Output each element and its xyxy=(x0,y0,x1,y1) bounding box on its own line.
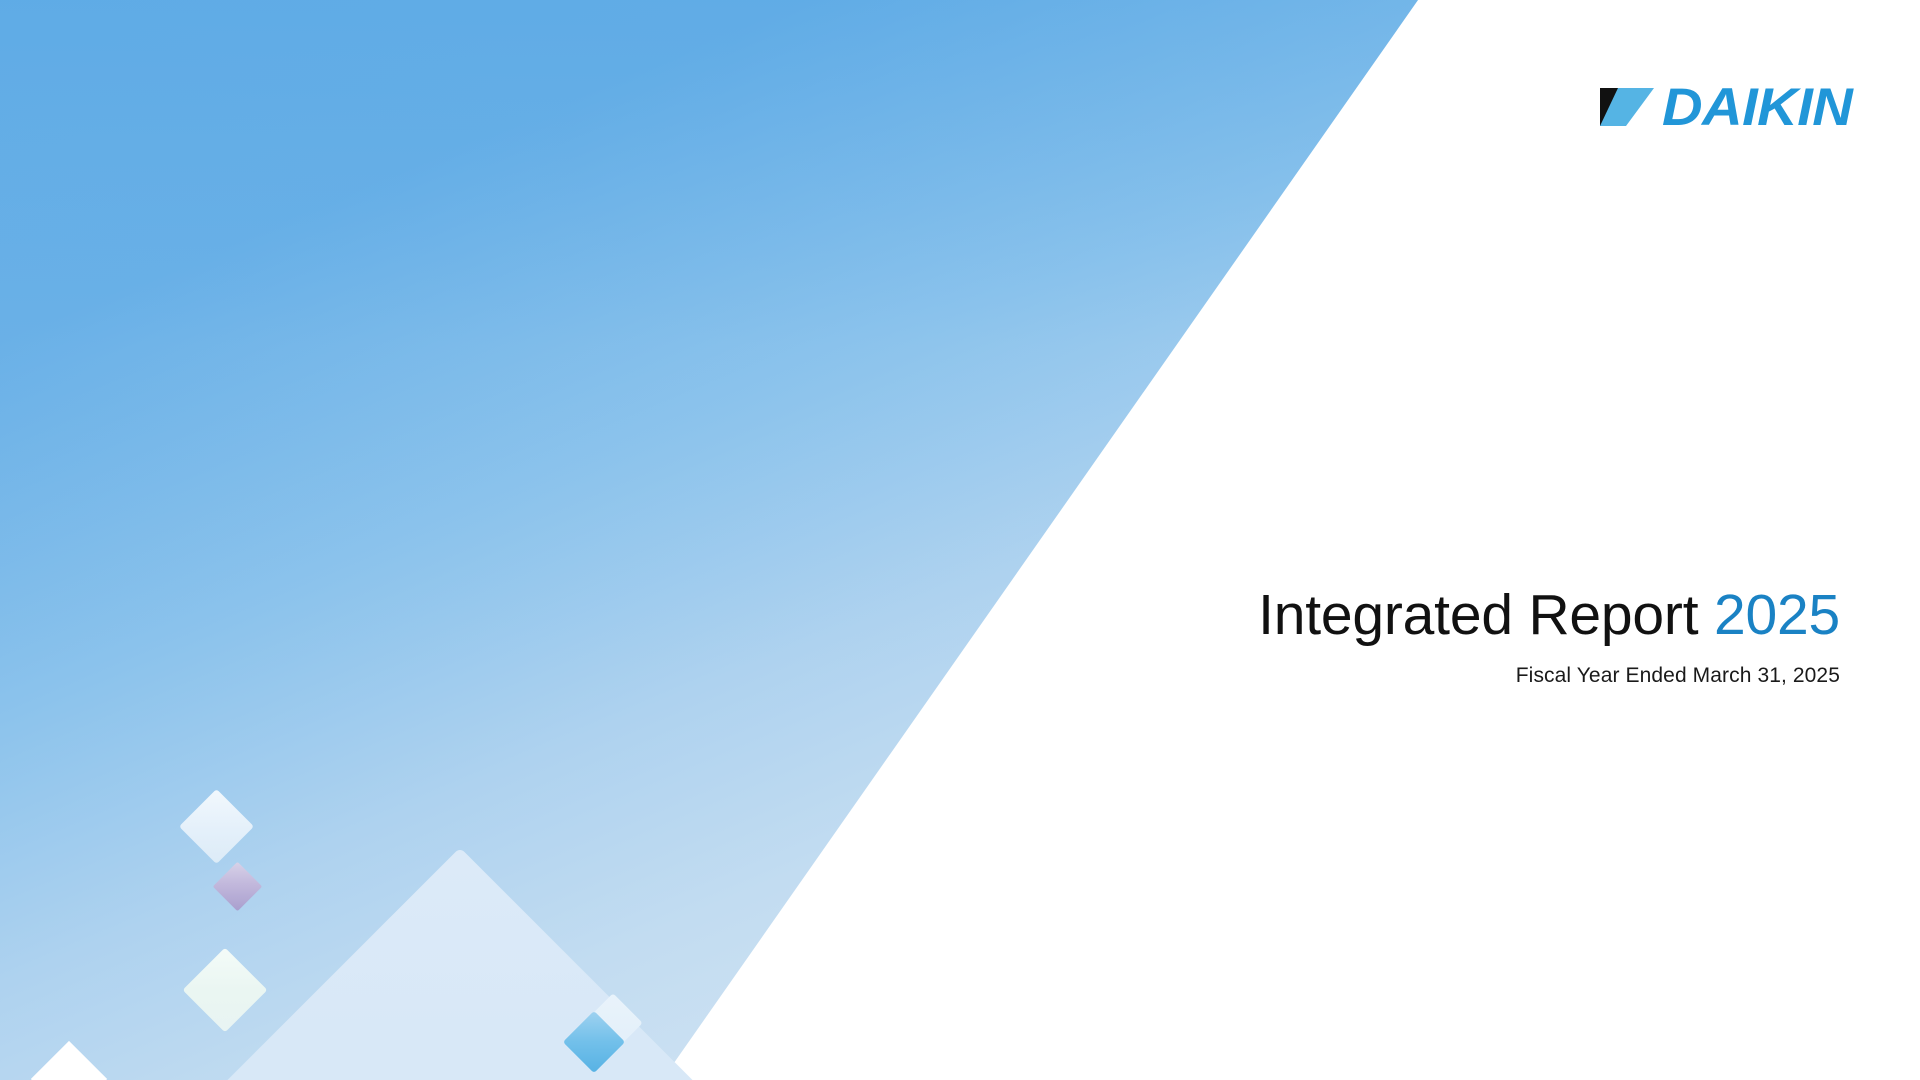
daikin-wordmark: DAIKIN xyxy=(1662,81,1852,134)
report-cover-slide: DAIKIN Integrated Report 2025 Fiscal Yea… xyxy=(0,0,1920,1080)
page-title: Integrated Report 2025 xyxy=(940,586,1840,646)
cover-subtitle: Fiscal Year Ended March 31, 2025 xyxy=(940,664,1840,688)
title-year-text: 2025 xyxy=(1714,583,1840,647)
title-main-text: Integrated Report xyxy=(1258,583,1698,647)
daikin-logo: DAIKIN xyxy=(1596,76,1842,138)
daikin-logo-mark-icon xyxy=(1596,76,1658,138)
background-diagonal-blue xyxy=(0,0,1920,1080)
cover-title-block: Integrated Report 2025 Fiscal Year Ended… xyxy=(940,586,1840,688)
